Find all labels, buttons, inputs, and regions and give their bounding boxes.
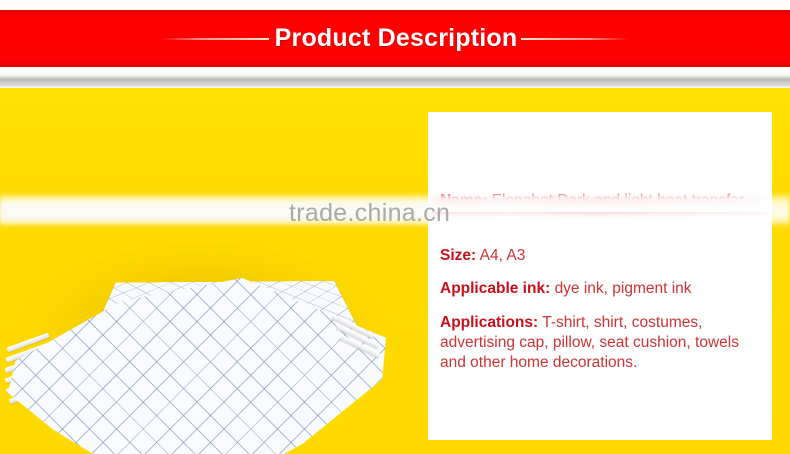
info-key-applications: Applications: — [440, 314, 538, 331]
info-key-size: Size: — [440, 247, 476, 264]
product-photo — [0, 88, 428, 454]
page-top-margin — [0, 0, 790, 10]
screenshot-root: Product Description Name: Elepahnt Dark … — [0, 0, 790, 454]
banner-rule-right-icon — [521, 38, 629, 40]
info-row-applications: Applications: T-shirt, shirt, costumes, … — [440, 313, 752, 373]
info-row-name: Name: Elepahnt Dark and light heat trans… — [440, 191, 790, 211]
info-row-size: Size: A4, A3 — [440, 246, 525, 266]
info-value-applicable-ink: dye ink, pigment ink — [555, 280, 692, 297]
banner-inner: Product Description — [0, 24, 790, 53]
product-description-banner: Product Description — [0, 10, 790, 67]
info-value-name: Elepahnt Dark and light heat transfer — [492, 192, 744, 209]
info-key-name: Name: — [440, 192, 487, 209]
info-key-applicable-ink: Applicable ink: — [440, 280, 550, 297]
product-info-box: Name: Elepahnt Dark and light heat trans… — [428, 112, 772, 440]
banner-rule-left-icon — [161, 38, 269, 40]
banner-shadow-strip — [0, 67, 790, 88]
banner-title: Product Description — [275, 24, 518, 53]
info-value-size: A4, A3 — [480, 247, 526, 264]
info-row-applicable-ink: Applicable ink: dye ink, pigment ink — [440, 279, 692, 299]
